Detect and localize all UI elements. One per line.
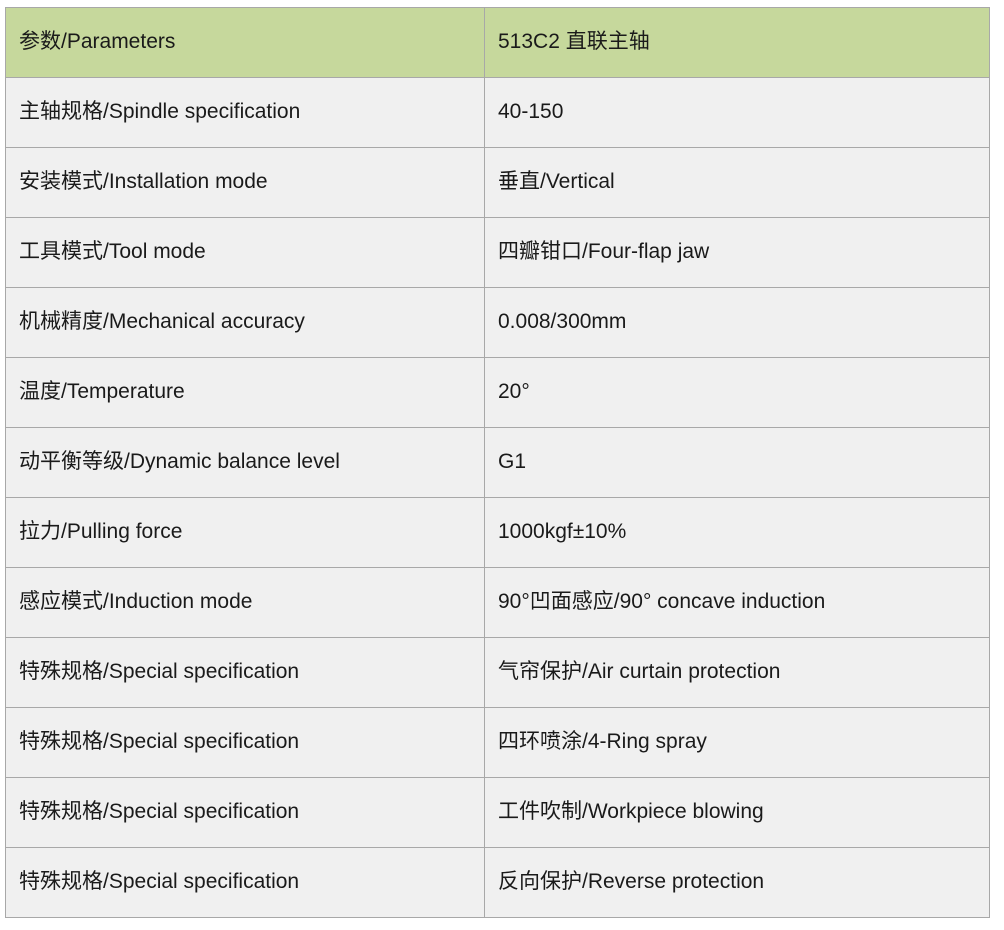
table-cell-value-label: 工件吹制/Workpiece blowing (498, 798, 989, 826)
table-cell-parameter: 动平衡等级/Dynamic balance level (6, 428, 485, 498)
table-cell-value-label: 四环喷涂/4-Ring spray (498, 728, 989, 756)
table-cell-value-label: 90°凹面感应/90° concave induction (498, 588, 989, 616)
table-cell-value: 20° (485, 358, 990, 428)
table-cell-parameter: 感应模式/Induction mode (6, 568, 485, 638)
table-row: 动平衡等级/Dynamic balance levelG1 (6, 428, 990, 498)
table-cell-value: 90°凹面感应/90° concave induction (485, 568, 990, 638)
table-cell-parameter-label: 安装模式/Installation mode (19, 168, 484, 196)
table-row: 拉力/Pulling force1000kgf±10% (6, 498, 990, 568)
table-cell-value-label: 反向保护/Reverse protection (498, 868, 989, 896)
column-header-parameter-label: 参数/Parameters (19, 28, 484, 56)
table-cell-parameter: 工具模式/Tool mode (6, 218, 485, 288)
table-cell-parameter-label: 机械精度/Mechanical accuracy (19, 308, 484, 336)
table-cell-value: 40-150 (485, 78, 990, 148)
table-cell-value-label: 气帘保护/Air curtain protection (498, 658, 989, 686)
table-row: 特殊规格/Special specification反向保护/Reverse p… (6, 848, 990, 918)
table-row: 机械精度/Mechanical accuracy0.008/300mm (6, 288, 990, 358)
column-header-parameter: 参数/Parameters (6, 8, 485, 78)
table-cell-value: 垂直/Vertical (485, 148, 990, 218)
table-cell-parameter: 特殊规格/Special specification (6, 778, 485, 848)
table-row: 感应模式/Induction mode90°凹面感应/90° concave i… (6, 568, 990, 638)
table-row: 主轴规格/Spindle specification40-150 (6, 78, 990, 148)
table-cell-value: 气帘保护/Air curtain protection (485, 638, 990, 708)
column-header-value: 513C2 直联主轴 (485, 8, 990, 78)
table-cell-value: 工件吹制/Workpiece blowing (485, 778, 990, 848)
table-row: 温度/Temperature20° (6, 358, 990, 428)
table-cell-value: 四瓣钳口/Four-flap jaw (485, 218, 990, 288)
table-cell-parameter-label: 特殊规格/Special specification (19, 658, 484, 686)
table-cell-parameter-label: 主轴规格/Spindle specification (19, 98, 484, 126)
table-cell-value-label: 40-150 (498, 98, 989, 126)
table-cell-value: G1 (485, 428, 990, 498)
spindle-specification-table: 参数/Parameters 513C2 直联主轴 主轴规格/Spindle sp… (5, 7, 990, 918)
table-header: 参数/Parameters 513C2 直联主轴 (6, 8, 990, 78)
table-cell-parameter-label: 特殊规格/Special specification (19, 798, 484, 826)
spec-table-container: 参数/Parameters 513C2 直联主轴 主轴规格/Spindle sp… (0, 0, 1004, 930)
table-cell-value: 反向保护/Reverse protection (485, 848, 990, 918)
table-cell-value-label: 1000kgf±10% (498, 518, 989, 546)
table-cell-value-label: 20° (498, 378, 989, 406)
table-cell-parameter: 温度/Temperature (6, 358, 485, 428)
table-cell-parameter: 拉力/Pulling force (6, 498, 485, 568)
table-cell-value-label: G1 (498, 448, 989, 476)
table-cell-parameter: 特殊规格/Special specification (6, 848, 485, 918)
table-cell-value: 0.008/300mm (485, 288, 990, 358)
table-cell-parameter: 主轴规格/Spindle specification (6, 78, 485, 148)
table-cell-parameter-label: 特殊规格/Special specification (19, 868, 484, 896)
table-cell-parameter-label: 特殊规格/Special specification (19, 728, 484, 756)
table-header-row: 参数/Parameters 513C2 直联主轴 (6, 8, 990, 78)
table-row: 特殊规格/Special specification气帘保护/Air curta… (6, 638, 990, 708)
table-row: 特殊规格/Special specification四环喷涂/4-Ring sp… (6, 708, 990, 778)
table-cell-value-label: 垂直/Vertical (498, 168, 989, 196)
table-cell-parameter-label: 拉力/Pulling force (19, 518, 484, 546)
table-cell-value: 1000kgf±10% (485, 498, 990, 568)
table-cell-value-label: 0.008/300mm (498, 308, 989, 336)
table-row: 安装模式/Installation mode垂直/Vertical (6, 148, 990, 218)
table-cell-parameter-label: 温度/Temperature (19, 378, 484, 406)
table-row: 特殊规格/Special specification工件吹制/Workpiece… (6, 778, 990, 848)
table-row: 工具模式/Tool mode四瓣钳口/Four-flap jaw (6, 218, 990, 288)
table-cell-parameter: 安装模式/Installation mode (6, 148, 485, 218)
column-header-value-label: 513C2 直联主轴 (498, 28, 989, 56)
table-cell-parameter: 特殊规格/Special specification (6, 638, 485, 708)
table-cell-parameter: 机械精度/Mechanical accuracy (6, 288, 485, 358)
table-cell-parameter-label: 感应模式/Induction mode (19, 588, 484, 616)
table-body: 主轴规格/Spindle specification40-150安装模式/Ins… (6, 78, 990, 918)
table-cell-parameter-label: 动平衡等级/Dynamic balance level (19, 448, 484, 476)
table-cell-parameter: 特殊规格/Special specification (6, 708, 485, 778)
table-cell-parameter-label: 工具模式/Tool mode (19, 238, 484, 266)
table-cell-value: 四环喷涂/4-Ring spray (485, 708, 990, 778)
table-cell-value-label: 四瓣钳口/Four-flap jaw (498, 238, 989, 266)
